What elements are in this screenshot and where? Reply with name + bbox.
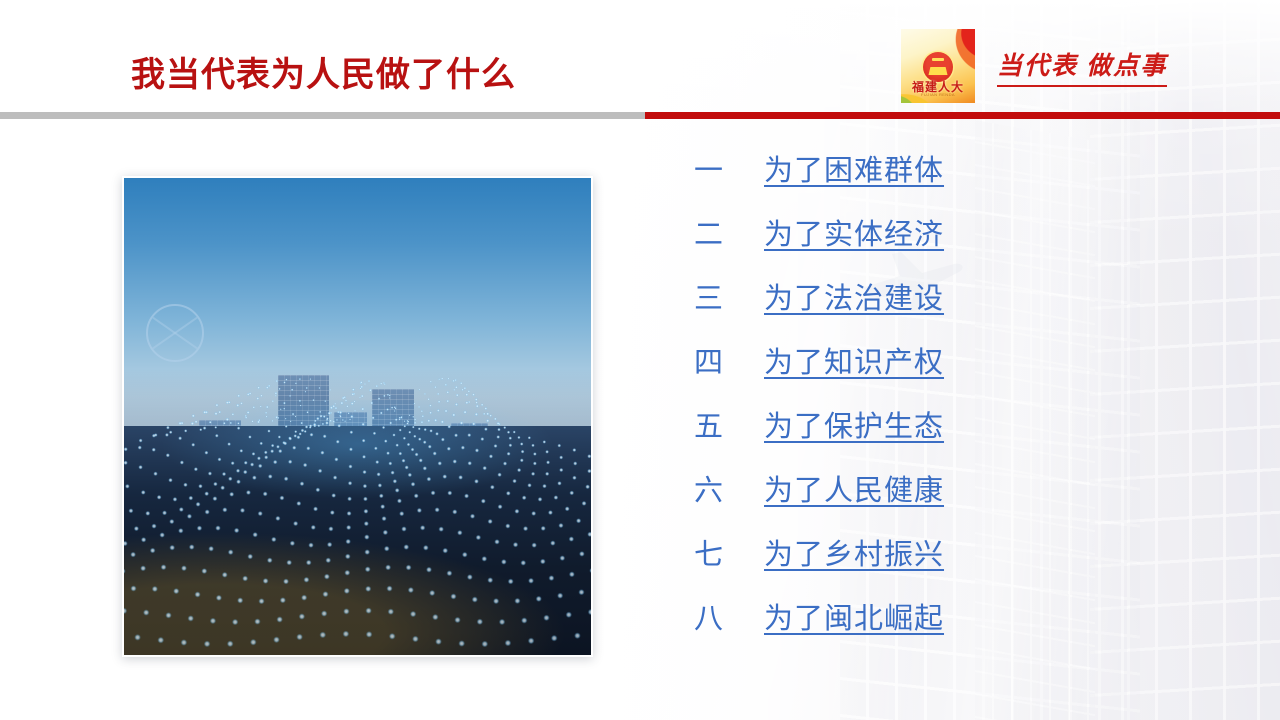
agenda-item-number: 二 bbox=[694, 211, 764, 253]
agenda-item-link[interactable]: 为了乡村振兴 bbox=[764, 531, 944, 573]
slide-header: 我当代表为人民做了什么 福建人大 FUJIAN RENDA 当代表 做点事 bbox=[0, 0, 1280, 118]
agenda-item-number: 七 bbox=[694, 531, 764, 573]
brand-block: 福建人大 FUJIAN RENDA 当代表 做点事 bbox=[901, 29, 1167, 103]
agenda-item-number: 一 bbox=[694, 147, 764, 189]
agenda-item[interactable]: 五为了保护生态 bbox=[694, 403, 994, 445]
agenda-item-link[interactable]: 为了保护生态 bbox=[764, 403, 944, 445]
photo-network-mesh bbox=[124, 378, 591, 655]
agenda-item-number: 三 bbox=[694, 275, 764, 317]
agenda-item-link[interactable]: 为了困难群体 bbox=[764, 147, 944, 189]
presentation-slide: 我当代表为人民做了什么 福建人大 FUJIAN RENDA 当代表 做点事 bbox=[0, 0, 1280, 720]
agenda-item[interactable]: 二为了实体经济 bbox=[694, 211, 994, 253]
national-emblem-icon bbox=[923, 52, 953, 82]
agenda-item[interactable]: 一为了困难群体 bbox=[694, 147, 994, 189]
smart-city-photo bbox=[124, 178, 591, 655]
fujian-peoples-congress-logo: 福建人大 FUJIAN RENDA bbox=[901, 29, 975, 103]
agenda-item-number: 四 bbox=[694, 339, 764, 381]
page-title: 我当代表为人民做了什么 bbox=[131, 47, 516, 96]
agenda-item-link[interactable]: 为了闽北崛起 bbox=[764, 595, 944, 637]
agenda-item[interactable]: 四为了知识产权 bbox=[694, 339, 994, 381]
agenda-item[interactable]: 八为了闽北崛起 bbox=[694, 595, 994, 637]
agenda-item-number: 五 bbox=[694, 403, 764, 445]
slide-image-frame bbox=[122, 176, 593, 657]
mesh-dots-svg bbox=[124, 378, 591, 655]
agenda-item-link[interactable]: 为了实体经济 bbox=[764, 211, 944, 253]
agenda-item-link[interactable]: 为了人民健康 bbox=[764, 467, 944, 509]
ferris-wheel-icon bbox=[146, 304, 204, 362]
agenda-item-link[interactable]: 为了法治建设 bbox=[764, 275, 944, 317]
agenda-item-number: 八 bbox=[694, 595, 764, 637]
agenda-item-number: 六 bbox=[694, 467, 764, 509]
agenda-item[interactable]: 七为了乡村振兴 bbox=[694, 531, 994, 573]
logo-pinyin-subtitle: FUJIAN RENDA bbox=[901, 93, 975, 97]
agenda-item[interactable]: 六为了人民健康 bbox=[694, 467, 994, 509]
agenda-item-link[interactable]: 为了知识产权 bbox=[764, 339, 944, 381]
agenda-item[interactable]: 三为了法治建设 bbox=[694, 275, 994, 317]
brand-slogan: 当代表 做点事 bbox=[997, 46, 1167, 87]
agenda-list: 一为了困难群体二为了实体经济三为了法治建设四为了知识产权五为了保护生态六为了人民… bbox=[694, 147, 994, 637]
